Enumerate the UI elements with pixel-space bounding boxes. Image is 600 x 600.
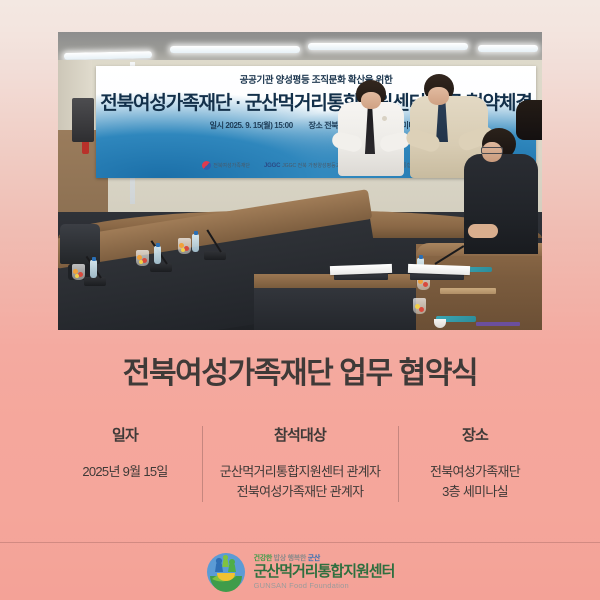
fruit-cup (178, 238, 191, 254)
footer-logo-text: 건강한 밥상 행복한 군산 군산먹거리통합지원센터 GUNSAN Food Fo… (254, 555, 395, 590)
info-value-date-line-0: 2025년 9월 15일 (44, 462, 206, 482)
info-value-attendees-line-0: 군산먹거리통합지원센터 관계자 (214, 462, 386, 482)
face (361, 92, 381, 109)
info-column-attendees: 참석대상 군산먹거리통합지원센터 관계자 전북여성가족재단 관계자 (210, 424, 390, 502)
water-bottle (154, 246, 161, 264)
info-heading-venue: 장소 (394, 424, 556, 445)
info-value-attendees-line-1: 전북여성가족재단 관계자 (214, 482, 386, 502)
person-partial-foreground (516, 100, 542, 140)
face (428, 87, 449, 105)
footer-tagline: 건강한 밥상 행복한 군산 (254, 555, 395, 562)
water-bottle (90, 260, 97, 278)
event-announcement-card: 공공기관 양성평등 조직문화 확산을 위한 전북여성가족재단 · 군산먹거리통합… (0, 0, 600, 600)
footer-org-name: 군산먹거리통합지원센터 (254, 564, 395, 580)
tagline-part-4: 군산 (308, 555, 320, 562)
footer-logo: 건강한 밥상 행복한 군산 군산먹거리통합지원센터 GUNSAN Food Fo… (0, 552, 600, 592)
page-title: 전북여성가족재단 업무 협약식 (0, 348, 600, 392)
tagline-part-3: 행복한 (288, 555, 306, 562)
banner-logo-label-0: 전북여성가족재단 (213, 162, 250, 169)
info-column-date: 일자 2025년 9월 15일 (40, 424, 210, 482)
microphone-base (84, 277, 106, 286)
info-value-venue-line-1: 3층 세미나실 (394, 482, 556, 502)
hands (468, 224, 498, 238)
person-signer-left (334, 80, 408, 190)
lapel-badge (382, 116, 387, 121)
banner-logo-jbwf: 전북여성가족재단 (202, 161, 250, 170)
ceiling-light (478, 45, 538, 52)
wall-speaker (72, 98, 94, 142)
jggc-logo-icon: JGGC (264, 163, 280, 169)
info-heading-date: 일자 (44, 424, 206, 445)
fruit-cup (136, 250, 149, 266)
purple-folder (476, 322, 520, 326)
tagline-part-1: 건강한 (254, 555, 272, 562)
fruit-cup (413, 298, 426, 314)
footer-org-name-en: GUNSAN Food Foundation (254, 582, 395, 590)
jbwf-logo-icon (202, 161, 211, 170)
microphone-base (150, 263, 172, 272)
event-info-row: 일자 2025년 9월 15일 참석대상 군산먹거리통합지원센터 관계자 전북여… (40, 424, 560, 502)
gunsan-food-foundation-logo-icon (206, 552, 246, 592)
torso (464, 154, 538, 254)
tagline-part-2: 밥상 (274, 555, 286, 562)
info-column-venue: 장소 전북여성가족재단 3층 세미나실 (390, 424, 560, 502)
banner-place-label: 장소 (308, 121, 322, 130)
column-divider (202, 426, 203, 502)
column-divider (398, 426, 399, 502)
fruit-cup (72, 264, 85, 280)
banner-datetime-label: 일시 (210, 121, 224, 130)
water-bottle (192, 234, 199, 252)
footer-divider (0, 542, 600, 543)
info-value-venue-line-0: 전북여성가족재단 (394, 462, 556, 482)
banner-datetime-value: 2025. 9. 15(월) 15:00 (225, 121, 292, 130)
info-heading-attendees: 참석대상 (214, 424, 386, 445)
ceiling-light (308, 43, 468, 50)
microphone-base (204, 251, 226, 260)
eyeglasses (481, 147, 503, 154)
person-seated-right (462, 128, 538, 296)
ceiling-light (170, 46, 300, 53)
signing-ceremony-photo: 공공기관 양성평등 조직문화 확산을 위한 전북여성가족재단 · 군산먹거리통합… (58, 32, 542, 330)
